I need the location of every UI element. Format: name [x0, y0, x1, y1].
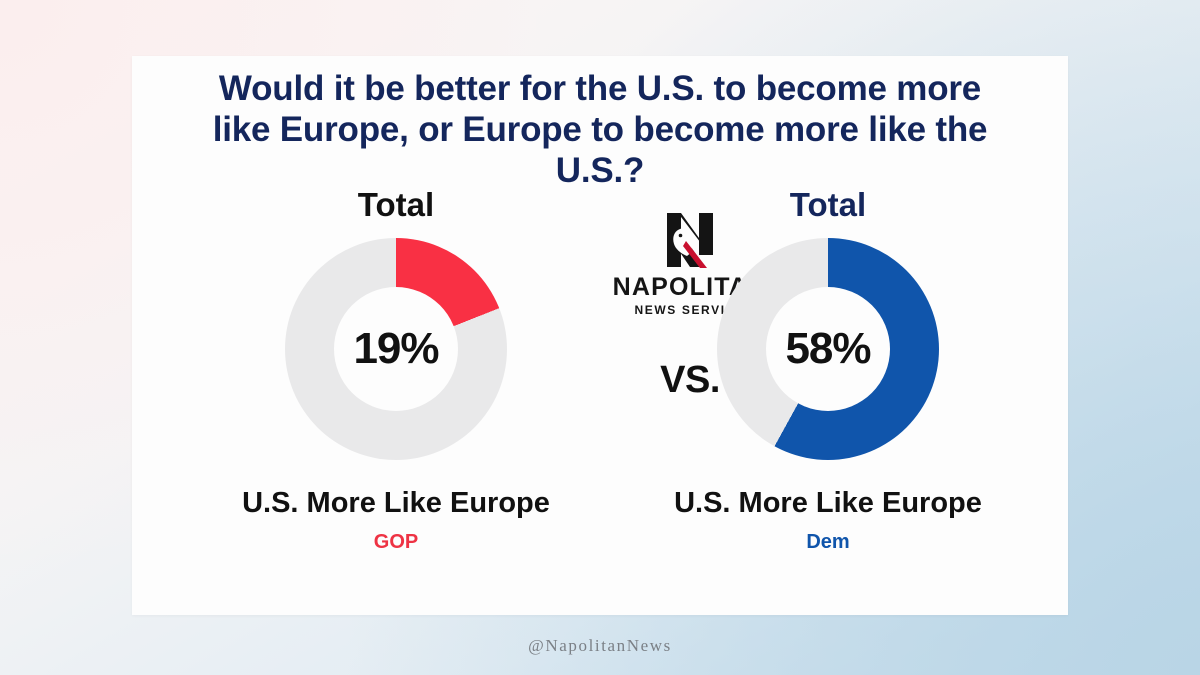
chart-card: Would it be better for the U.S. to becom… — [132, 56, 1068, 615]
panel-dem: Total 58% U.S. More Like Europe Dem — [638, 186, 1018, 554]
donut-gop-value: 19% — [353, 327, 438, 371]
donut-hole-dem: 58% — [766, 287, 890, 411]
panel-dem-caption: U.S. More Like Europe — [638, 486, 1018, 520]
donut-chart-gop: 19% — [285, 238, 507, 460]
panel-gop-party-label: GOP — [206, 530, 586, 554]
donut-hole-gop: 19% — [334, 287, 458, 411]
donut-chart-dem: 58% — [717, 238, 939, 460]
donut-dem-value: 58% — [785, 327, 870, 371]
social-handle: @NapolitanNews — [0, 636, 1200, 656]
panel-gop-total-label: Total — [206, 186, 586, 224]
panel-gop: Total 19% U.S. More Like Europe GOP — [206, 186, 586, 554]
panel-gop-caption: U.S. More Like Europe — [206, 486, 586, 520]
panel-dem-total-label: Total — [638, 186, 1018, 224]
panel-dem-party-label: Dem — [638, 530, 1018, 554]
page-title: Would it be better for the U.S. to becom… — [192, 68, 1008, 191]
poll-graphic: Would it be better for the U.S. to becom… — [0, 0, 1200, 675]
